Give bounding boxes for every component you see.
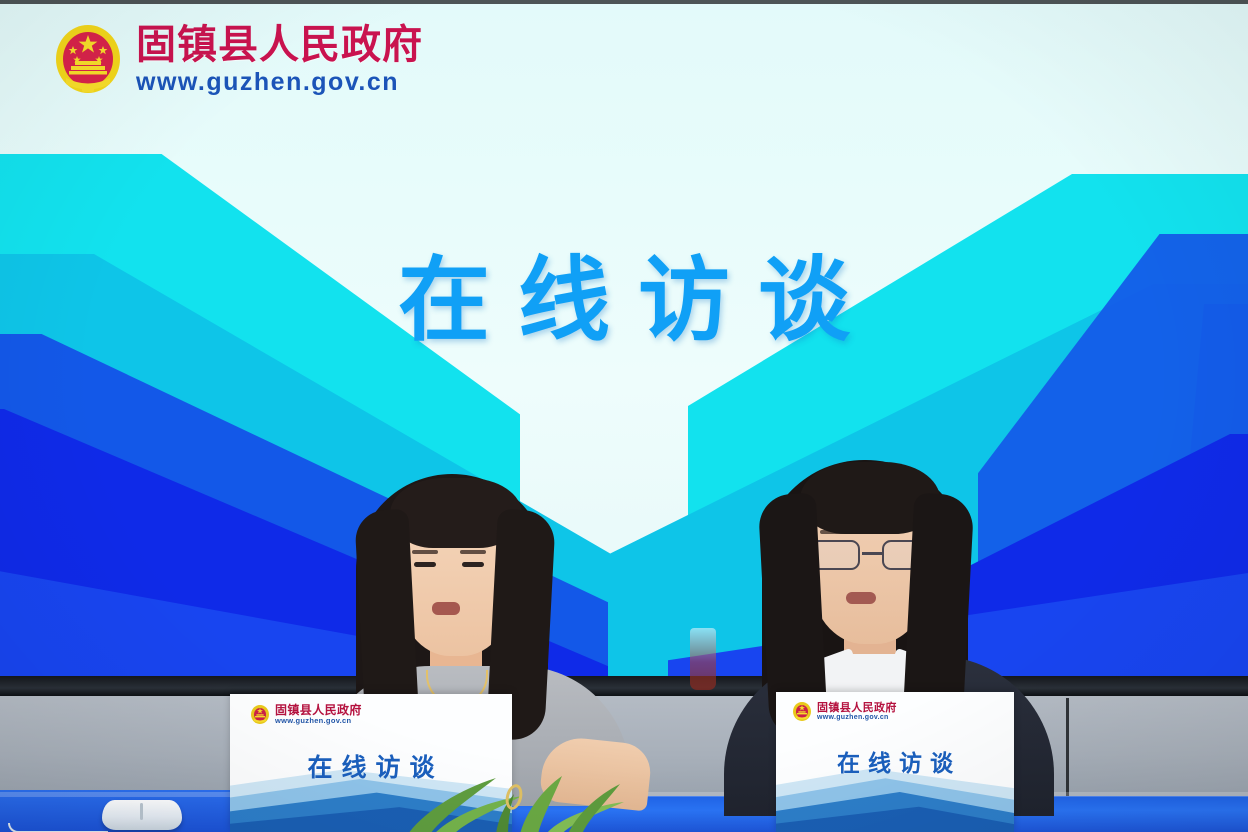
mouse-cord: [8, 823, 108, 832]
drinking-glass-icon: [690, 628, 716, 690]
logo-website-url: www.guzhen.gov.cn: [136, 70, 423, 95]
nameplate-left-logo: 固镇县人民政府 www.guzhen.gov.cn: [250, 704, 362, 725]
backdrop-program-title: 在线访谈: [0, 226, 1248, 359]
nameplate-right-website: www.guzhen.gov.cn: [817, 714, 897, 721]
computer-mouse-icon: [96, 796, 188, 832]
government-logo: 固镇县人民政府 www.guzhen.gov.cn: [52, 22, 423, 96]
national-emblem-icon: [792, 701, 812, 722]
nameplate-left-website: www.guzhen.gov.cn: [275, 717, 362, 725]
nameplate-left-organization: 固镇县人民政府: [275, 704, 362, 717]
potted-plant-leaves-icon: [400, 772, 650, 832]
nameplate-right: 固镇县人民政府 www.guzhen.gov.cn 在线访谈: [776, 692, 1014, 832]
nameplate-right-logo: 固镇县人民政府 www.guzhen.gov.cn: [792, 701, 897, 722]
desk-panel-seam: [1066, 698, 1069, 800]
broadcast-screenshot: 固镇县人民政府 www.guzhen.gov.cn 在线访谈: [0, 0, 1248, 832]
national-emblem-icon: [52, 22, 124, 96]
national-emblem-icon: [250, 704, 270, 725]
logo-organization-name: 固镇县人民政府: [136, 25, 423, 65]
nameplate-right-organization: 固镇县人民政府: [817, 702, 897, 714]
nameplate-right-title: 在线访谈: [776, 744, 1014, 778]
